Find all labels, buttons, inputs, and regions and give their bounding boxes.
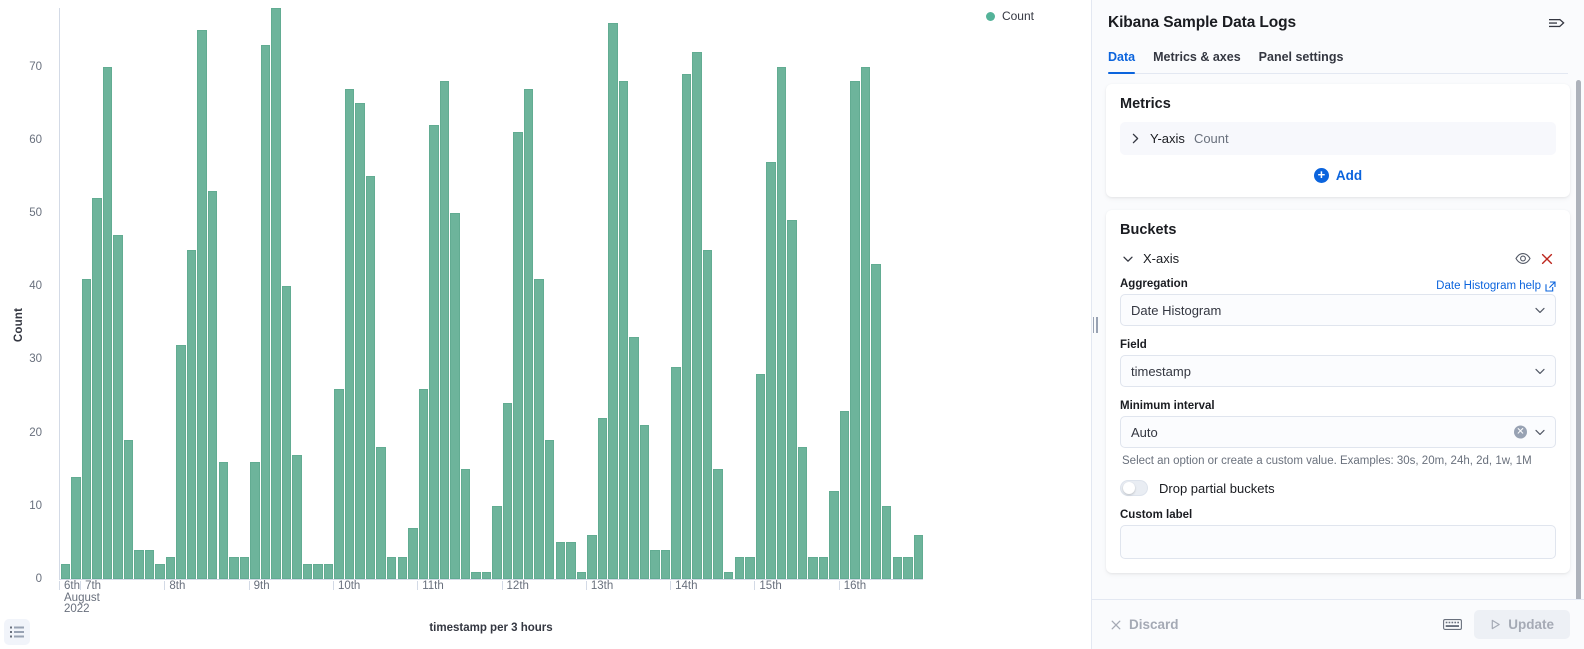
bar[interactable] [692, 52, 701, 579]
bar[interactable] [524, 89, 533, 579]
bar-slot[interactable] [903, 8, 914, 579]
y-axis-tick-50: 50 [2, 207, 42, 219]
bar[interactable] [124, 440, 133, 579]
bar[interactable] [398, 557, 407, 579]
bar[interactable] [176, 345, 185, 579]
y-axis-tick-10: 10 [2, 500, 42, 512]
x-axis-tick-13th: 13th [586, 581, 613, 590]
bar[interactable] [240, 557, 249, 579]
bar[interactable] [366, 176, 375, 579]
tab-data[interactable]: Data [1108, 45, 1144, 73]
clear-icon[interactable]: ✕ [1514, 426, 1527, 439]
bar[interactable] [197, 30, 206, 579]
bar-slot[interactable] [871, 8, 882, 579]
bar-slot[interactable] [460, 8, 471, 579]
bar[interactable] [461, 469, 470, 579]
bar[interactable] [61, 564, 70, 579]
bar[interactable] [187, 250, 196, 579]
bar-slot[interactable] [818, 8, 829, 579]
bar[interactable] [787, 220, 796, 579]
bar-slot[interactable] [165, 8, 176, 579]
bar[interactable] [713, 469, 722, 579]
bar[interactable] [334, 389, 343, 579]
bar[interactable] [387, 557, 396, 579]
external-link-icon [1545, 281, 1556, 292]
bar-slot[interactable] [702, 8, 713, 579]
bar-slot[interactable] [144, 8, 155, 579]
bar[interactable] [650, 550, 659, 579]
bar-slot[interactable] [102, 8, 113, 579]
bar-slot[interactable] [829, 8, 840, 579]
bar-slot[interactable] [408, 8, 419, 579]
bar[interactable] [419, 389, 428, 579]
legend-list-toggle-icon[interactable] [4, 619, 30, 645]
bar-slot[interactable] [492, 8, 503, 579]
bar[interactable] [408, 528, 417, 579]
editor-side-panel: Kibana Sample Data Logs DataMetrics & ax… [1091, 0, 1584, 649]
bar-slot[interactable] [523, 8, 534, 579]
bar-slot[interactable] [260, 8, 271, 579]
x-axis-tick-line: 7th [85, 581, 101, 593]
bar-slot[interactable] [566, 8, 577, 579]
bar-slot[interactable] [860, 8, 871, 579]
bar-slot[interactable] [618, 8, 629, 579]
bar[interactable] [534, 279, 543, 579]
field-label: Field [1120, 339, 1556, 351]
discard-button[interactable]: Discard [1110, 617, 1179, 632]
x-axis-tick-9th: 9th [249, 581, 270, 590]
bar[interactable] [819, 557, 828, 579]
field-select[interactable]: timestamp [1120, 355, 1556, 387]
bar[interactable] [777, 67, 786, 579]
bar[interactable] [850, 81, 859, 579]
bar-series-count [60, 8, 924, 579]
bar-slot[interactable] [71, 8, 82, 579]
bar-slot[interactable] [281, 8, 292, 579]
date-histogram-help-label: Date Histogram help [1436, 280, 1541, 292]
x-axis-tick-line: 15th [759, 581, 781, 593]
y-axis-tick-40: 40 [2, 280, 42, 292]
minimum-interval-label: Minimum interval [1120, 400, 1556, 412]
bar-slot[interactable] [544, 8, 555, 579]
bar[interactable] [566, 542, 575, 579]
bar-slot[interactable] [534, 8, 545, 579]
minimum-interval-hint: Select an option or create a custom valu… [1122, 454, 1556, 469]
x-axis-tick-10th: 10th [333, 581, 360, 590]
bar[interactable] [71, 477, 80, 579]
bar-slot[interactable] [502, 8, 513, 579]
bar[interactable] [871, 264, 880, 579]
bar[interactable] [229, 557, 238, 579]
metric-row-label: Y-axis [1150, 131, 1185, 146]
x-axis-tick-16th: 16th [839, 581, 866, 590]
bar[interactable] [219, 462, 228, 579]
bar-slot[interactable] [365, 8, 376, 579]
bar[interactable] [482, 572, 491, 579]
bar-slot[interactable] [450, 8, 461, 579]
y-axis-tick-60: 60 [2, 134, 42, 146]
y-axis-title: Count [13, 307, 25, 341]
bar-slot[interactable] [313, 8, 324, 579]
bar[interactable] [829, 491, 838, 579]
bar-slot[interactable] [881, 8, 892, 579]
bar[interactable] [155, 564, 164, 579]
aggregation-select[interactable]: Date Histogram [1120, 294, 1556, 326]
bar-slot[interactable] [344, 8, 355, 579]
eye-icon[interactable] [1515, 252, 1531, 265]
bar[interactable] [303, 564, 312, 579]
bar-slot[interactable] [250, 8, 261, 579]
bar-slot[interactable] [576, 8, 587, 579]
metric-row-value: Count [1194, 131, 1229, 146]
bar-slot[interactable] [692, 8, 703, 579]
update-label: Update [1508, 617, 1554, 632]
bar[interactable] [608, 23, 617, 579]
tab-metrics-axes[interactable]: Metrics & axes [1144, 45, 1250, 73]
bar-slot[interactable] [755, 8, 766, 579]
metrics-card: Metrics Y-axis Count + Add [1106, 84, 1570, 197]
bar-slot[interactable] [797, 8, 808, 579]
bar-slot[interactable] [429, 8, 440, 579]
aggregation-label: Aggregation [1120, 278, 1188, 290]
bar-slot[interactable] [555, 8, 566, 579]
bar-slot[interactable] [766, 8, 777, 579]
bar[interactable] [893, 557, 902, 579]
bar-slot[interactable] [723, 8, 734, 579]
bar-slot[interactable] [513, 8, 524, 579]
bar-slot[interactable] [323, 8, 334, 579]
bar[interactable] [882, 506, 891, 579]
drop-partial-buckets-toggle[interactable] [1120, 480, 1148, 496]
bar-slot[interactable] [197, 8, 208, 579]
bar[interactable] [145, 550, 154, 579]
bar[interactable] [682, 74, 691, 579]
bar[interactable] [724, 572, 733, 579]
chevron-down-icon [1534, 426, 1546, 438]
bar-slot[interactable] [60, 8, 71, 579]
bar-slot[interactable] [734, 8, 745, 579]
x-axis-tick-line: 10th [338, 581, 360, 593]
toggle-knob [1123, 482, 1135, 494]
bar[interactable] [619, 81, 628, 579]
bar-slot[interactable] [386, 8, 397, 579]
bar-slot[interactable] [418, 8, 429, 579]
buckets-card: Buckets X-axis [1106, 210, 1570, 573]
bar[interactable] [903, 557, 912, 579]
bar-slot[interactable] [713, 8, 724, 579]
bar-slot[interactable] [850, 8, 861, 579]
bar-slot[interactable] [186, 8, 197, 579]
update-button[interactable]: Update [1474, 610, 1570, 639]
bar-slot[interactable] [176, 8, 187, 579]
aggregation-label-row: Aggregation Date Histogram help [1120, 278, 1556, 294]
bar-slot[interactable] [376, 8, 387, 579]
bar-slot[interactable] [355, 8, 366, 579]
bar[interactable] [103, 67, 112, 579]
kibana-visualize-editor: Count Count 010203040506070 6thAugust202… [0, 0, 1584, 649]
bar-slot[interactable] [660, 8, 671, 579]
bar-slot[interactable] [471, 8, 482, 579]
bar-slot[interactable] [292, 8, 303, 579]
bar[interactable] [292, 455, 301, 579]
bar-slot[interactable] [808, 8, 819, 579]
bar[interactable] [745, 557, 754, 579]
bar[interactable] [376, 447, 385, 579]
x-axis-tick-line: 2022 [64, 604, 100, 616]
bar[interactable] [324, 564, 333, 579]
bar-slot[interactable] [113, 8, 124, 579]
bar[interactable] [355, 103, 364, 579]
bar[interactable] [166, 557, 175, 579]
bar[interactable] [503, 403, 512, 579]
chevron-right-icon [1130, 133, 1141, 144]
x-axis-tick-line: 16th [844, 581, 866, 593]
panel-footer: Discard Update [1092, 599, 1584, 649]
panel-resize-handle[interactable] [1091, 0, 1099, 649]
bar-slot[interactable] [650, 8, 661, 579]
y-axis-tick-30: 30 [2, 353, 42, 365]
x-axis-title: timestamp per 3 hours [59, 622, 923, 634]
bar-slot[interactable] [481, 8, 492, 579]
x-axis-tick-line: 8th [169, 581, 185, 593]
x-axis-tick-7th: 7th [80, 581, 101, 590]
minimum-interval-value: Auto [1131, 425, 1158, 440]
bar[interactable] [92, 198, 101, 579]
metric-row-y-axis[interactable]: Y-axis Count [1120, 122, 1556, 155]
chevron-down-icon [1534, 304, 1546, 316]
bar-slot[interactable] [134, 8, 145, 579]
bar[interactable] [450, 213, 459, 579]
panel-tabs: DataMetrics & axesPanel settings [1108, 45, 1568, 74]
bar[interactable] [703, 250, 712, 579]
bar-slot[interactable] [587, 8, 598, 579]
buckets-title: Buckets [1120, 222, 1556, 238]
bar-slot[interactable] [207, 8, 218, 579]
chart-pane: Count Count 010203040506070 6thAugust202… [0, 0, 1091, 649]
bar-slot[interactable] [123, 8, 134, 579]
aggregation-value: Date Histogram [1131, 303, 1221, 318]
bar[interactable] [492, 506, 501, 579]
bar[interactable] [598, 418, 607, 579]
x-axis-tick-line: 14th [675, 581, 697, 593]
discard-label: Discard [1129, 617, 1179, 632]
x-axis-tick-15th: 15th [754, 581, 781, 590]
bar[interactable] [840, 411, 849, 579]
tab-panel-settings[interactable]: Panel settings [1250, 45, 1353, 73]
bar[interactable] [640, 425, 649, 579]
bar-slot[interactable] [839, 8, 850, 579]
bar-slot[interactable] [639, 8, 650, 579]
bar[interactable] [313, 564, 322, 579]
bar[interactable] [671, 367, 680, 579]
y-axis-tick-0: 0 [2, 573, 42, 585]
remove-bucket-icon[interactable] [1540, 252, 1554, 266]
custom-label-label: Custom label [1120, 509, 1556, 521]
bar-slot[interactable] [218, 8, 229, 579]
x-axis-tick-14th: 14th [670, 581, 697, 590]
drop-partial-buckets-row[interactable]: Drop partial buckets [1120, 480, 1556, 496]
bar-slot[interactable] [776, 8, 787, 579]
metrics-title: Metrics [1120, 96, 1556, 112]
bar-slot[interactable] [608, 8, 619, 579]
y-axis-tick-20: 20 [2, 427, 42, 439]
bar-slot[interactable] [892, 8, 903, 579]
page-title: Kibana Sample Data Logs [1108, 14, 1296, 32]
bar-slot[interactable] [92, 8, 103, 579]
bar[interactable] [587, 535, 596, 579]
bar-slot[interactable] [671, 8, 682, 579]
custom-label-input[interactable] [1120, 525, 1556, 559]
bar-slot[interactable] [239, 8, 250, 579]
x-axis-tick-12th: 12th [502, 581, 529, 590]
x-axis-tick-line: 11th [422, 581, 444, 593]
close-icon [1110, 619, 1122, 631]
bar-slot[interactable] [681, 8, 692, 579]
bar[interactable] [134, 550, 143, 579]
resize-grip-icon [1092, 317, 1098, 333]
bar-slot[interactable] [913, 8, 924, 579]
bar[interactable] [798, 447, 807, 579]
bar-slot[interactable] [597, 8, 608, 579]
bar[interactable] [429, 125, 438, 579]
bar-slot[interactable] [439, 8, 450, 579]
bar[interactable] [766, 162, 775, 579]
bar-slot[interactable] [334, 8, 345, 579]
x-axis-tick-line: 13th [591, 581, 613, 593]
minimum-interval-combobox[interactable]: Auto ✕ [1120, 416, 1556, 448]
y-axis-tick-70: 70 [2, 61, 42, 73]
bar-slot[interactable] [629, 8, 640, 579]
panel-body[interactable]: Metrics Y-axis Count + Add Bu [1092, 74, 1584, 599]
bar[interactable] [82, 279, 91, 579]
plot-area [59, 8, 923, 580]
bucket-row-x-axis[interactable]: X-axis [1120, 248, 1556, 269]
bar-slot[interactable] [271, 8, 282, 579]
panel-scrollbar[interactable] [1576, 80, 1581, 599]
bar[interactable] [250, 462, 259, 579]
date-histogram-help-link[interactable]: Date Histogram help [1436, 280, 1556, 292]
bar-slot[interactable] [787, 8, 798, 579]
bar[interactable] [271, 8, 280, 579]
bar[interactable] [261, 45, 270, 579]
x-axis-ticks: 6thAugust20227th8th9th10th11th12th13th14… [59, 581, 923, 623]
bar[interactable] [808, 557, 817, 579]
panel-header: Kibana Sample Data Logs DataMetrics & ax… [1092, 0, 1584, 74]
x-axis-tick-line: 9th [254, 581, 270, 593]
collapse-panel-icon[interactable] [1546, 12, 1568, 34]
bucket-row-label: X-axis [1143, 251, 1179, 266]
chevron-down-icon [1534, 365, 1546, 377]
bar[interactable] [513, 132, 522, 579]
bar[interactable] [545, 440, 554, 579]
add-metric-label: Add [1336, 168, 1362, 183]
chevron-down-icon[interactable] [1122, 253, 1134, 265]
bar[interactable] [113, 235, 122, 579]
bar[interactable] [577, 572, 586, 579]
bar-slot[interactable] [81, 8, 92, 579]
bar[interactable] [629, 337, 638, 579]
bar[interactable] [440, 81, 449, 579]
chart-legend: Count [986, 9, 1034, 23]
bar-slot[interactable] [745, 8, 756, 579]
bar-slot[interactable] [155, 8, 166, 579]
bar[interactable] [914, 535, 923, 579]
bar-slot[interactable] [229, 8, 240, 579]
field-value: timestamp [1131, 364, 1191, 379]
bar[interactable] [208, 191, 217, 579]
plus-circle-icon: + [1314, 168, 1329, 183]
bar[interactable] [345, 89, 354, 579]
bar[interactable] [735, 557, 744, 579]
legend-label-count[interactable]: Count [1002, 9, 1034, 23]
x-axis-tick-line: 12th [507, 581, 529, 593]
drop-partial-buckets-label: Drop partial buckets [1159, 481, 1275, 496]
add-metric-button[interactable]: + Add [1120, 168, 1556, 183]
x-axis-tick-11th: 11th [417, 581, 444, 590]
bar[interactable] [556, 542, 565, 579]
bar[interactable] [282, 286, 291, 579]
legend-color-swatch [986, 12, 995, 21]
x-axis-tick-8th: 8th [164, 581, 185, 590]
bar[interactable] [861, 67, 870, 579]
bar-slot[interactable] [302, 8, 313, 579]
bar-slot[interactable] [397, 8, 408, 579]
bar[interactable] [661, 550, 670, 579]
keyboard-shortcuts-icon[interactable] [1440, 614, 1464, 636]
bar[interactable] [756, 374, 765, 579]
play-icon [1490, 619, 1501, 630]
panel-title-row: Kibana Sample Data Logs [1108, 12, 1568, 34]
bar[interactable] [471, 572, 480, 579]
